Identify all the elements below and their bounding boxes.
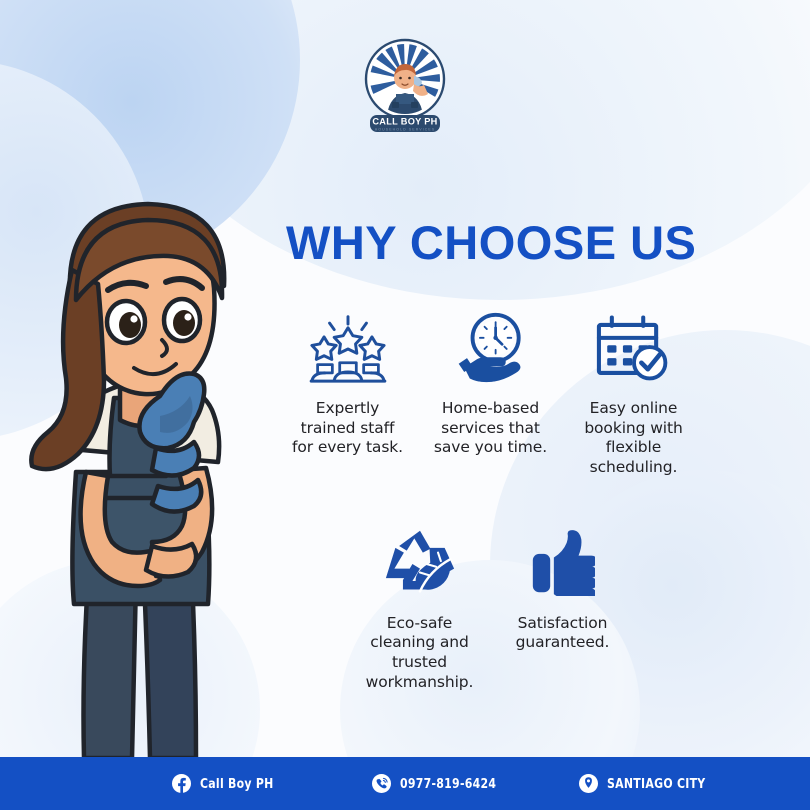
features-grid: Expertly trained staff for every task. xyxy=(276,305,706,692)
feature-home-based: Home-based services that save you time. xyxy=(419,305,562,478)
recycle-leaf-icon xyxy=(348,520,491,606)
thumbs-up-icon xyxy=(491,520,634,606)
feature-online-booking: Easy online booking with flexible schedu… xyxy=(562,305,705,478)
feature-caption: Satisfaction guaranteed. xyxy=(516,614,610,653)
footer-phone-label: 0977-819-6424 xyxy=(400,776,496,792)
feature-satisfaction: Satisfaction guaranteed. xyxy=(491,520,634,693)
poster-canvas: CALL BOY PH HOUSEHOLD SERVICES xyxy=(0,0,810,810)
calendar-check-icon xyxy=(562,305,705,391)
feature-caption: Expertly trained staff for every task. xyxy=(292,399,403,458)
location-pin-icon xyxy=(579,774,598,793)
features-row-1: Expertly trained staff for every task. xyxy=(276,305,706,478)
footer-facebook-label: Call Boy PH xyxy=(200,776,274,792)
hand-clock-icon xyxy=(419,305,562,391)
logo-subtitle: HOUSEHOLD SERVICES xyxy=(375,127,436,131)
features-row-2: Eco-safe cleaning and trusted workmanshi… xyxy=(348,520,706,693)
footer-location[interactable]: SANTIAGO CITY xyxy=(579,774,716,793)
contact-footer: Call Boy PH 0977-819-6424 xyxy=(0,757,810,810)
feature-caption: Home-based services that save you time. xyxy=(434,399,547,458)
feature-caption: Eco-safe cleaning and trusted workmanshi… xyxy=(366,614,474,693)
feature-caption: Easy online booking with flexible schedu… xyxy=(584,399,682,478)
footer-location-label: SANTIAGO CITY xyxy=(607,776,705,792)
feature-eco-safe: Eco-safe cleaning and trusted workmanshi… xyxy=(348,520,491,693)
footer-facebook[interactable]: Call Boy PH xyxy=(172,774,282,793)
phone-icon xyxy=(372,774,391,793)
facebook-icon xyxy=(172,774,191,793)
brand-logo: CALL BOY PH HOUSEHOLD SERVICES xyxy=(352,32,458,138)
page-title: WHY CHOOSE US xyxy=(286,215,696,270)
footer-phone[interactable]: 0977-819-6424 xyxy=(372,774,507,793)
cleaning-lady-illustration xyxy=(10,150,300,765)
logo-title: CALL BOY PH xyxy=(372,117,437,127)
